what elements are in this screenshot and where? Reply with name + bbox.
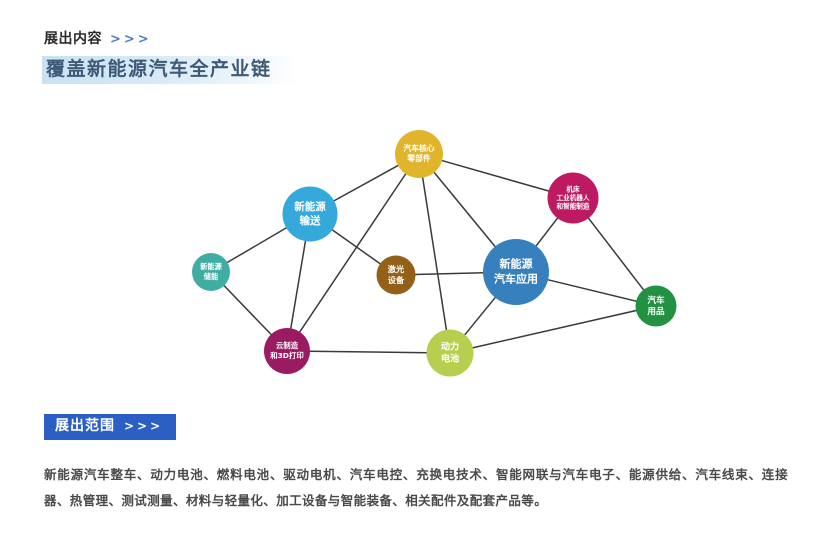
- network-edge-nev_app-to-battery: [464, 297, 496, 336]
- node-label-cloud_3dp: 云制造: [276, 341, 299, 350]
- network-node-storage[interactable]: 新能源储能: [192, 253, 230, 291]
- network-edge-machine_tool-to-auto_goods: [588, 217, 644, 290]
- node-label-core_parts: 汽车核心: [403, 143, 434, 153]
- exhibit-scope-body-text: 新能源汽车整车、动力电池、燃料电池、驱动电机、汽车电控、充换电技术、智能网联与汽…: [44, 462, 788, 514]
- node-label-cloud_3dp: 和3D打印: [269, 351, 303, 360]
- node-label-storage: 新能源: [200, 262, 222, 271]
- node-label-transmission: 输送: [300, 214, 321, 227]
- industry-chain-network-diagram: 汽车核心零部件机床工业机器人和智能制造新能源输送新能源储能激光设备新能源汽车应用…: [0, 110, 830, 400]
- network-node-machine_tool[interactable]: 机床工业机器人和智能制造: [548, 173, 599, 224]
- exhibit-content-heading-row: 展出内容 >>>: [44, 30, 298, 49]
- network-node-cloud_3dp[interactable]: 云制造和3D打印: [264, 328, 310, 374]
- network-edge-core_parts-to-machine_tool: [441, 160, 549, 191]
- network-edge-nev_app-to-machine_tool: [536, 217, 559, 246]
- network-edge-battery-to-cloud_3dp: [309, 351, 428, 352]
- network-node-transmission[interactable]: 新能源输送: [283, 187, 338, 242]
- network-edge-nev_app-to-auto_goods: [547, 280, 637, 302]
- network-edge-core_parts-to-battery: [423, 177, 447, 331]
- exhibit-content-subtitle-text: 覆盖新能源汽车全产业链: [46, 58, 272, 80]
- exhibit-content-subtitle: 覆盖新能源汽车全产业链: [44, 54, 298, 85]
- node-label-auto_goods: 汽车: [647, 294, 665, 306]
- node-circle-auto_goods: [636, 286, 677, 327]
- exhibit-content-section: 展出内容 >>> 覆盖新能源汽车全产业链: [44, 30, 298, 85]
- network-edge-transmission-to-cloud_3dp: [291, 240, 306, 329]
- exhibit-content-heading: 展出内容: [44, 30, 102, 48]
- node-label-battery: 电池: [441, 353, 460, 365]
- network-node-battery[interactable]: 动力电池: [427, 330, 474, 377]
- network-node-laser[interactable]: 激光设备: [377, 256, 416, 295]
- network-node-auto_goods[interactable]: 汽车用品: [636, 286, 677, 327]
- node-label-auto_goods: 用品: [646, 306, 665, 317]
- network-edge-laser-to-nev_app: [414, 273, 484, 275]
- node-label-core_parts: 零部件: [406, 153, 431, 163]
- exhibit-scope-section: 展出范围 >>> 新能源汽车整车、动力电池、燃料电池、驱动电机、汽车电控、充换电…: [44, 414, 788, 514]
- chevrons-icon: >>>: [110, 31, 152, 49]
- exhibit-scope-badge: 展出范围 >>>: [44, 414, 176, 440]
- network-edge-transmission-to-laser: [332, 229, 381, 264]
- node-label-battery: 动力: [441, 340, 459, 352]
- node-label-nev_app: 汽车应用: [494, 271, 538, 285]
- network-edge-transmission-to-storage: [227, 227, 288, 263]
- node-label-machine_tool: 机床: [566, 184, 580, 193]
- network-edge-core_parts-to-nev_app: [434, 172, 496, 248]
- network-node-nev_app[interactable]: 新能源汽车应用: [483, 239, 549, 305]
- node-label-laser: 设备: [388, 275, 405, 285]
- chevrons-icon-scope: >>>: [124, 418, 163, 435]
- network-edge-battery-to-auto_goods: [472, 310, 637, 348]
- node-label-machine_tool: 和智能制造: [556, 202, 590, 211]
- node-label-nev_app: 新能源: [500, 257, 533, 271]
- exhibit-scope-badge-label: 展出范围: [55, 418, 115, 435]
- network-edge-storage-to-cloud_3dp: [223, 285, 271, 335]
- network-edge-core_parts-to-transmission: [333, 165, 399, 201]
- network-canvas: 汽车核心零部件机床工业机器人和智能制造新能源输送新能源储能激光设备新能源汽车应用…: [0, 110, 830, 400]
- node-label-transmission: 新能源: [294, 200, 326, 213]
- network-node-core_parts[interactable]: 汽车核心零部件: [395, 130, 443, 178]
- slide-page: 展出内容 >>> 覆盖新能源汽车全产业链 汽车核心零部件机床工业机器人和智能制造…: [0, 0, 830, 554]
- node-label-storage: 储能: [203, 272, 219, 281]
- node-label-laser: 激光: [388, 264, 405, 274]
- node-label-machine_tool: 工业机器人: [557, 193, 590, 202]
